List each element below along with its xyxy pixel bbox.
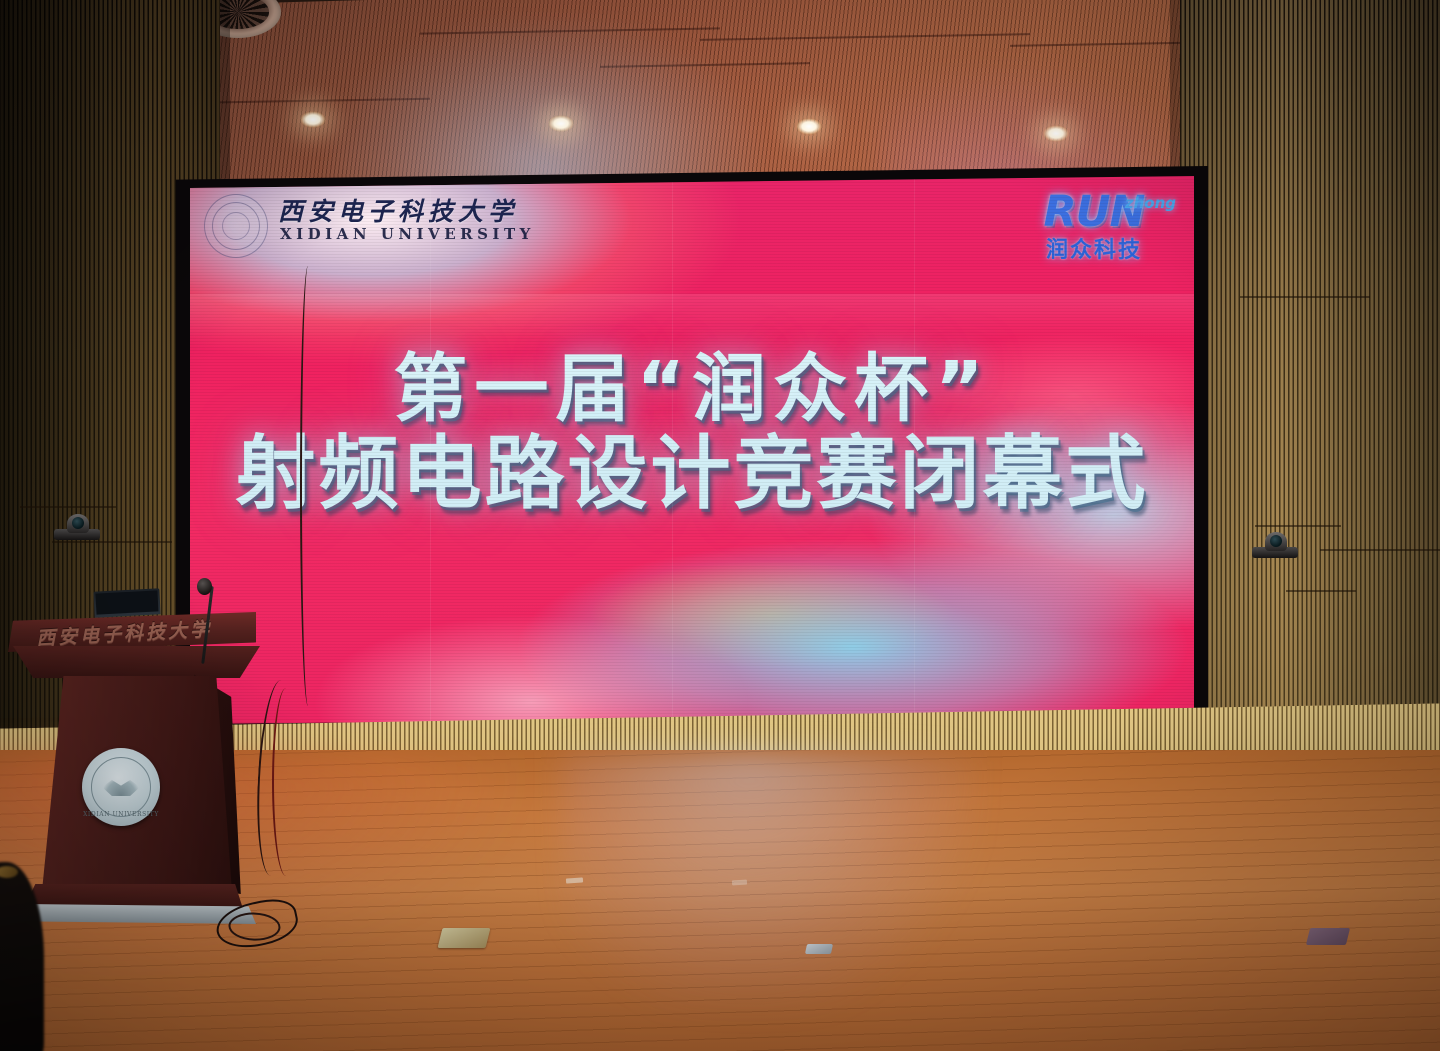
banner-title-line-1: 第一届“润众杯” [190,352,1194,427]
wall-seam [1320,549,1440,551]
wall-seam [20,506,116,508]
xidian-english-name: XIDIAN UNIVERSITY [280,225,535,243]
hanging-cable [300,266,316,706]
led-panel-seam [430,176,431,724]
ceiling-downlight-icon [300,111,326,128]
floor-mark [732,880,747,886]
floor-outlet-box [805,944,833,954]
presenter-laptop-icon [93,588,160,617]
left-ptz-camera-icon [54,518,100,540]
right-ptz-camera-icon [1252,536,1298,558]
floor-outlet-box [1306,928,1350,945]
led-screen[interactable]: 西安电子科技大学 XIDIAN UNIVERSITY zhong RUN 润众科… [190,176,1194,724]
seal-bird-glyph [102,776,140,796]
floor-light-reflection [560,752,980,1012]
floor-outlet-box [438,928,491,948]
xidian-seal-icon [204,194,268,258]
podium-cable [272,688,300,876]
banner-title-line-2: 射频电路设计竞赛闭幕式 [190,433,1194,515]
wall-seam [1286,590,1356,592]
wall-seam [1255,525,1341,527]
podium-carved-text: 西安电子科技大学 [35,614,216,650]
xidian-university-logo: 西安电子科技大学 XIDIAN UNIVERSITY [204,192,504,258]
runzhong-chinese-name: 润众科技 [1006,232,1182,264]
seal-english-text: XIDIAN UNIVERSITY [82,811,160,818]
wall-seam [1240,296,1370,298]
xidian-chinese-name: 西安电子科技大学 [278,192,518,228]
led-panel-seam [672,176,673,724]
podium-bevel [8,646,260,678]
auditorium-stage-scene: 西安电子科技大学 XIDIAN UNIVERSITY zhong RUN 润众科… [0,0,1440,1051]
speaker-podium[interactable]: 西安电子科技大学 XIDIAN UNIVERSITY [8,612,270,932]
led-panel-seam [914,176,915,724]
runzhong-superscript: zhong [1125,194,1176,212]
runzhong-sponsor-logo: zhong RUN 润众科技 [1006,192,1182,266]
banner-title: 第一届“润众杯” 射频电路设计竞赛闭幕式 [190,352,1194,515]
ceiling-downlight-icon [1043,125,1069,142]
ceiling-downlight-icon [796,118,822,135]
wall-seam [52,541,172,543]
screen-highlight-band [190,294,1194,338]
microphone-icon [197,578,212,595]
xidian-university-seal-icon: XIDIAN UNIVERSITY [82,748,160,826]
ceiling-downlight-icon [548,115,574,132]
